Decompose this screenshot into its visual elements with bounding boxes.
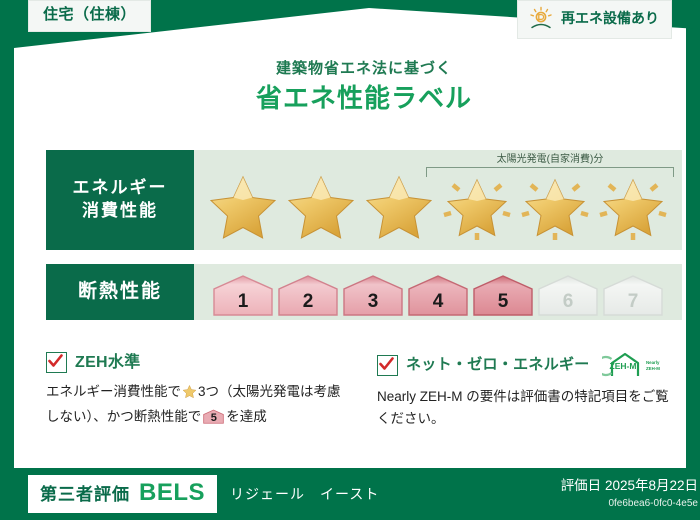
renewable-energy-badge: 再エネ設備あり bbox=[517, 0, 672, 39]
solar-bracket-label: 太陽光発電(自家消費)分 bbox=[426, 154, 674, 165]
insulation-level-5: 5 bbox=[472, 273, 534, 317]
criteria-section: ZEH水準 エネルギー消費性能で 3つ（太陽光発電は考慮しない）、かつ断熱性能で… bbox=[46, 352, 682, 430]
footer-meta: 評価日 2025年8月22日 0fe6bea6-0fc0-4e5e bbox=[561, 478, 698, 509]
inline-star-icon bbox=[182, 384, 197, 406]
checkbox-checked-icon bbox=[377, 355, 398, 376]
evaluation-id: 0fe6bea6-0fc0-4e5e bbox=[561, 498, 698, 510]
criterion-zeh-header: ZEH水準 bbox=[46, 352, 351, 373]
insulation-level-3: 3 bbox=[342, 273, 404, 317]
energy-label-line1: エネルギー bbox=[73, 177, 168, 200]
star-filled bbox=[206, 170, 280, 244]
zeh-m-logo: ZEH-M Nearly ZEH-M bbox=[602, 352, 668, 378]
insulation-performance-label: 断熱性能 bbox=[46, 264, 194, 320]
renewable-energy-label: 再エネ設備あり bbox=[561, 11, 659, 26]
sun-solar-icon bbox=[528, 6, 554, 32]
energy-performance-label: 住宅（住棟） 再エネ設備あり 建築物省エネ法に基づく 省エネ性能ラベル bbox=[0, 0, 700, 520]
criterion-zeh-standard: ZEH水準 エネルギー消費性能で 3つ（太陽光発電は考慮しない）、かつ断熱性能で… bbox=[46, 352, 351, 430]
zeh-body-part1: エネルギー消費性能で bbox=[46, 384, 181, 399]
zeh-body-part3: を達成 bbox=[226, 409, 267, 424]
star-filled bbox=[362, 170, 436, 244]
criterion-net-zero-energy: ネット・ゼロ・エネルギー ZEH-M Nearly ZEH-M Nearly Z… bbox=[377, 352, 682, 430]
energy-performance-row: エネルギー 消費性能 太陽光発電(自家消費)分 bbox=[46, 150, 682, 250]
svg-text:ZEH-M: ZEH-M bbox=[609, 361, 636, 371]
energy-performance-label: エネルギー 消費性能 bbox=[46, 150, 194, 250]
energy-rating-panel: 太陽光発電(自家消費)分 bbox=[194, 150, 682, 250]
insulation-level-6-value: 6 bbox=[537, 292, 599, 311]
dwelling-type-label: 住宅（住棟） bbox=[43, 6, 136, 23]
page-title: 省エネ性能ラベル bbox=[14, 83, 700, 114]
insulation-level-scale: 1 2 bbox=[212, 273, 664, 320]
insulation-level-4: 4 bbox=[407, 273, 469, 317]
title-subtitle: 建築物省エネ法に基づく bbox=[14, 60, 700, 78]
svg-text:Nearly: Nearly bbox=[646, 360, 660, 365]
insulation-rating-panel: 1 2 bbox=[194, 264, 682, 320]
insulation-level-5-value: 5 bbox=[472, 292, 534, 311]
checkbox-checked-icon bbox=[46, 352, 67, 373]
bels-jp-label: 第三者評価 bbox=[40, 486, 130, 505]
insulation-level-3-value: 3 bbox=[342, 292, 404, 311]
insulation-performance-row: 断熱性能 1 bbox=[46, 264, 682, 320]
insulation-level-4-value: 4 bbox=[407, 292, 469, 311]
inline-level-value: 5 bbox=[203, 413, 224, 424]
insulation-level-1-value: 1 bbox=[212, 292, 274, 311]
evaluation-date: 評価日 2025年8月22日 bbox=[561, 478, 698, 494]
criterion-zeh-title: ZEH水準 bbox=[75, 354, 141, 372]
inline-insulation-level-badge: 5 bbox=[203, 408, 224, 425]
star-filled-solar bbox=[518, 170, 592, 244]
criterion-zeh-body: エネルギー消費性能で 3つ（太陽光発電は考慮しない）、かつ断熱性能で 5を達成 bbox=[46, 381, 351, 428]
insulation-level-7: 7 bbox=[602, 273, 664, 317]
star-filled bbox=[284, 170, 358, 244]
criterion-nze-body: Nearly ZEH-M の要件は評価書の特記項目をご覧ください。 bbox=[377, 386, 682, 430]
star-filled-solar bbox=[440, 170, 514, 244]
building-name: リジェール イースト bbox=[230, 484, 379, 504]
footer-bar: 第三者評価 BELS リジェール イースト 評価日 2025年8月22日 0fe… bbox=[14, 468, 700, 520]
criterion-nze-header: ネット・ゼロ・エネルギー ZEH-M Nearly ZEH-M bbox=[377, 352, 682, 378]
insulation-level-2-value: 2 bbox=[277, 292, 339, 311]
label-title-block: 建築物省エネ法に基づく 省エネ性能ラベル bbox=[14, 60, 700, 114]
insulation-label-text: 断熱性能 bbox=[78, 279, 162, 305]
criterion-nze-title: ネット・ゼロ・エネルギー bbox=[406, 357, 590, 374]
insulation-level-7-value: 7 bbox=[602, 292, 664, 311]
insulation-level-6: 6 bbox=[537, 273, 599, 317]
insulation-level-1: 1 bbox=[212, 273, 274, 317]
rating-rows: エネルギー 消費性能 太陽光発電(自家消費)分 bbox=[46, 150, 682, 334]
energy-label-line2: 消費性能 bbox=[82, 200, 158, 223]
svg-text:ZEH-M: ZEH-M bbox=[646, 366, 660, 371]
energy-star-rating bbox=[206, 170, 670, 250]
star-filled-solar bbox=[596, 170, 670, 244]
dwelling-type-tag: 住宅（住棟） bbox=[28, 0, 151, 32]
bels-en-label: BELS bbox=[139, 480, 205, 506]
insulation-level-2: 2 bbox=[277, 273, 339, 317]
bels-certification-box: 第三者評価 BELS bbox=[28, 475, 217, 512]
